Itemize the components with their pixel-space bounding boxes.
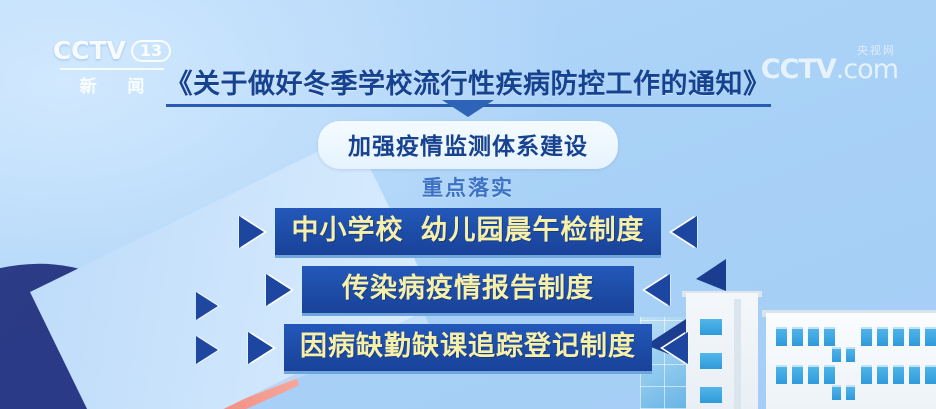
focus-label: 重点落实: [422, 177, 514, 200]
arrow-left-icon: [672, 216, 697, 248]
measure-bar: 传染病疫情报告制度: [302, 266, 634, 313]
sublabel-container: 重点落实: [0, 172, 936, 202]
list-item: 传染病疫情报告制度: [0, 266, 936, 324]
pill-container: 加强疫情监测体系建设: [0, 121, 936, 169]
window: [832, 385, 841, 400]
section-pill-label: 加强疫情监测体系建设: [318, 121, 618, 169]
window: [846, 385, 855, 400]
measure-bar: 因病缺勤缺课追踪登记制度: [284, 324, 652, 371]
list-item: 中小学校 幼儿园晨午检制度: [0, 208, 936, 266]
arrow-left-icon: [645, 274, 670, 306]
measure-label: 因病缺勤缺课追踪登记制度: [300, 330, 636, 363]
cctv-wordmark: CCTV: [53, 36, 126, 65]
arrow-right-icon: [266, 274, 291, 306]
measure-bar: 中小学校 幼儿园晨午检制度: [275, 208, 660, 255]
broadcast-graphic: CCTV 13 新 闻 央视网 CCTV.com 《关于做好冬季学校流行性疾病防…: [0, 0, 936, 409]
measure-label: 中小学校 幼儿园晨午检制度: [291, 214, 644, 247]
arrow-left-icon: [663, 332, 688, 364]
channel-number: 13: [131, 40, 171, 62]
measures-list: 中小学校 幼儿园晨午检制度 传染病疫情报告制度 因病缺勤缺课追踪登记制度: [0, 208, 936, 382]
down-arrow-icon: [442, 100, 494, 117]
list-item: 因病缺勤缺课追踪登记制度: [0, 324, 936, 382]
window: [700, 387, 722, 403]
measure-label: 传染病疫情报告制度: [318, 272, 618, 305]
arrow-right-icon: [239, 216, 264, 248]
arrow-right-icon: [248, 332, 273, 364]
